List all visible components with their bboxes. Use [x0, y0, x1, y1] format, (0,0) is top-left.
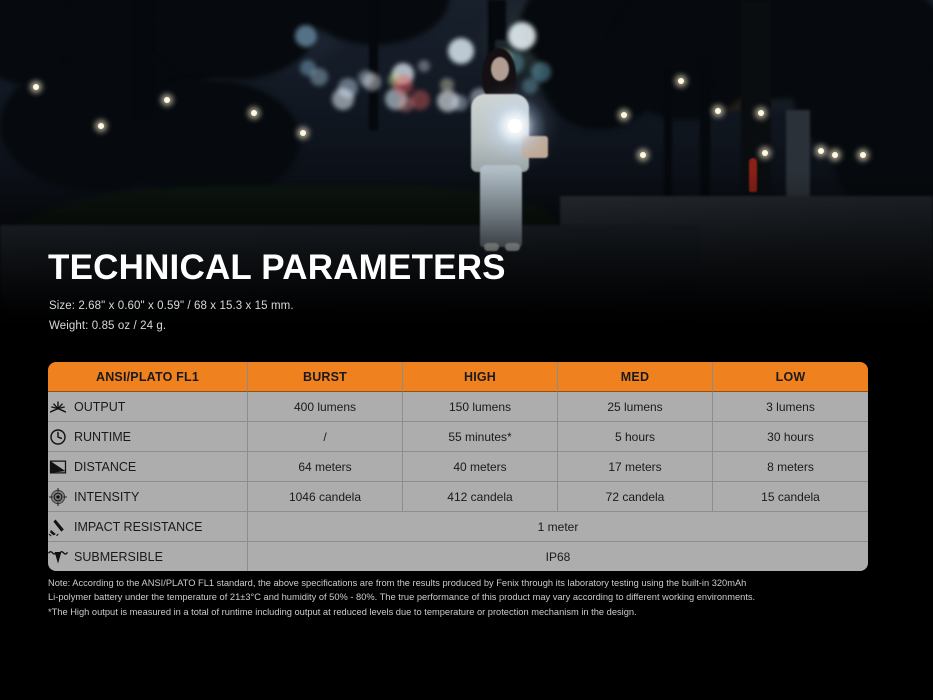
- light-burst-icon: [48, 397, 68, 417]
- cell-intensity-med: 72 candela: [558, 482, 713, 512]
- page-title: TECHNICAL PARAMETERS: [48, 250, 506, 285]
- table-header-row: ANSI/PLATO FL1 BURST HIGH MED LOW: [48, 362, 868, 392]
- row-label-text: OUTPUT: [74, 400, 125, 414]
- table-row: SUBMERSIBLE IP68: [48, 542, 868, 571]
- target-intensity-icon: [48, 487, 68, 507]
- table-row: IMPACT RESISTANCE 1 meter: [48, 512, 868, 542]
- column-header-low: LOW: [713, 362, 868, 392]
- table-row: DISTANCE 64 meters 40 meters 17 meters 8…: [48, 452, 868, 482]
- cell-runtime-low: 30 hours: [713, 422, 868, 452]
- row-label-text: DISTANCE: [74, 460, 136, 474]
- cell-runtime-high: 55 minutes*: [403, 422, 558, 452]
- column-header-high: HIGH: [403, 362, 558, 392]
- row-label-output: OUTPUT: [48, 392, 248, 422]
- cell-output-med: 25 lumens: [558, 392, 713, 422]
- footnote-line-3: *The High output is measured in a total …: [48, 605, 878, 619]
- row-label-text: INTENSITY: [74, 490, 139, 504]
- table-row: RUNTIME / 55 minutes* 5 hours 30 hours: [48, 422, 868, 452]
- footnote-block: Note: According to the ANSI/PLATO FL1 st…: [48, 576, 878, 619]
- table-row: OUTPUT 400 lumens 150 lumens 25 lumens 3…: [48, 392, 868, 422]
- row-label-text: SUBMERSIBLE: [74, 550, 163, 564]
- weight-line: Weight: 0.85 oz / 24 g.: [49, 320, 166, 332]
- technical-parameters-table: ANSI/PLATO FL1 BURST HIGH MED LOW: [48, 362, 868, 571]
- cell-distance-med: 17 meters: [558, 452, 713, 482]
- spec-content: TECHNICAL PARAMETERS Size: 2.68" x 0.60"…: [0, 0, 933, 700]
- beam-distance-icon: [48, 457, 68, 477]
- row-label-runtime: RUNTIME: [48, 422, 248, 452]
- clock-icon: [48, 427, 68, 447]
- cell-output-burst: 400 lumens: [248, 392, 403, 422]
- cell-output-low: 3 lumens: [713, 392, 868, 422]
- cell-impact-resistance-value: 1 meter: [248, 512, 868, 542]
- row-label-intensity: INTENSITY: [48, 482, 248, 512]
- cell-distance-high: 40 meters: [403, 452, 558, 482]
- product-spec-page: TECHNICAL PARAMETERS Size: 2.68" x 0.60"…: [0, 0, 933, 700]
- cell-distance-burst: 64 meters: [248, 452, 403, 482]
- cell-distance-low: 8 meters: [713, 452, 868, 482]
- row-label-text: RUNTIME: [74, 430, 131, 444]
- cell-intensity-burst: 1046 candela: [248, 482, 403, 512]
- row-label-submersible: SUBMERSIBLE: [48, 542, 248, 571]
- cell-runtime-med: 5 hours: [558, 422, 713, 452]
- row-label-impact-resistance: IMPACT RESISTANCE: [48, 512, 248, 542]
- footnote-line-2: Li-polymer battery under the temperature…: [48, 590, 878, 604]
- table-row: INTENSITY 1046 candela 412 candela 72 ca…: [48, 482, 868, 512]
- column-header-med: MED: [558, 362, 713, 392]
- footnote-line-1: Note: According to the ANSI/PLATO FL1 st…: [48, 576, 878, 590]
- cell-intensity-low: 15 candela: [713, 482, 868, 512]
- row-label-distance: DISTANCE: [48, 452, 248, 482]
- cell-runtime-burst: /: [248, 422, 403, 452]
- water-submersible-icon: [48, 547, 68, 567]
- row-label-text: IMPACT RESISTANCE: [74, 520, 203, 534]
- size-line: Size: 2.68" x 0.60" x 0.59" / 68 x 15.3 …: [49, 300, 294, 312]
- impact-hammer-icon: [48, 517, 68, 537]
- cell-output-high: 150 lumens: [403, 392, 558, 422]
- column-header-standard: ANSI/PLATO FL1: [48, 362, 248, 392]
- cell-intensity-high: 412 candela: [403, 482, 558, 512]
- cell-submersible-value: IP68: [248, 542, 868, 571]
- column-header-burst: BURST: [248, 362, 403, 392]
